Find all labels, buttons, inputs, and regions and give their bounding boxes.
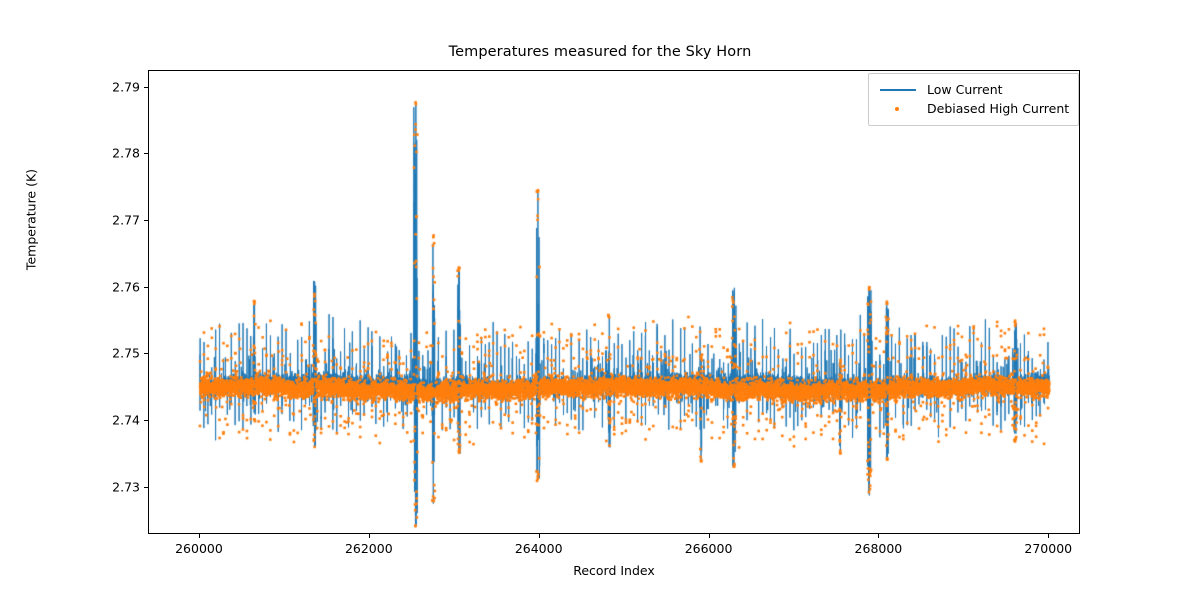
y-tick-mark xyxy=(144,87,148,88)
x-tick-mark xyxy=(709,534,710,538)
legend-item-debiased-high-current[interactable]: Debiased High Current xyxy=(878,99,1069,118)
x-tick-mark xyxy=(369,534,370,538)
y-axis-tick-labels: 2.732.742.752.762.772.782.79 xyxy=(80,0,140,600)
y-tick-label: 2.75 xyxy=(112,346,140,361)
series-canvas xyxy=(149,71,1079,533)
y-tick-label: 2.77 xyxy=(112,213,140,228)
x-tick-mark xyxy=(199,534,200,538)
y-tick-mark xyxy=(144,287,148,288)
x-tick-mark xyxy=(539,534,540,538)
y-tick-label: 2.79 xyxy=(112,79,140,94)
y-tick-label: 2.76 xyxy=(112,279,140,294)
legend-line-swatch xyxy=(878,83,918,97)
y-axis-label: Temperature (K) xyxy=(24,130,39,310)
legend-item-low-current[interactable]: Low Current xyxy=(878,80,1069,99)
legend-label-debiased-high-current: Debiased High Current xyxy=(927,101,1069,116)
legend-dot-swatch xyxy=(878,102,918,116)
chart-legend[interactable]: Low Current Debiased High Current xyxy=(868,73,1079,126)
legend-label-low-current: Low Current xyxy=(927,82,1003,97)
x-tick-label: 264000 xyxy=(515,541,563,556)
chart-title: Temperatures measured for the Sky Horn xyxy=(0,44,1200,60)
x-tick-label: 268000 xyxy=(855,541,903,556)
y-tick-mark xyxy=(144,153,148,154)
x-tick-label: 270000 xyxy=(1024,541,1072,556)
x-tick-label: 260000 xyxy=(175,541,223,556)
plot-axes xyxy=(148,70,1080,534)
x-tick-mark xyxy=(878,534,879,538)
y-tick-label: 2.78 xyxy=(112,146,140,161)
matplotlib-figure: Temperatures measured for the Sky Horn 2… xyxy=(0,0,1200,600)
x-axis-label: Record Index xyxy=(148,563,1080,578)
x-tick-label: 266000 xyxy=(685,541,733,556)
y-tick-label: 2.73 xyxy=(112,479,140,494)
y-tick-mark xyxy=(144,353,148,354)
y-tick-mark xyxy=(144,420,148,421)
y-tick-label: 2.74 xyxy=(112,413,140,428)
y-tick-mark xyxy=(144,220,148,221)
x-tick-label: 262000 xyxy=(345,541,393,556)
x-tick-mark xyxy=(1048,534,1049,538)
y-tick-mark xyxy=(144,487,148,488)
